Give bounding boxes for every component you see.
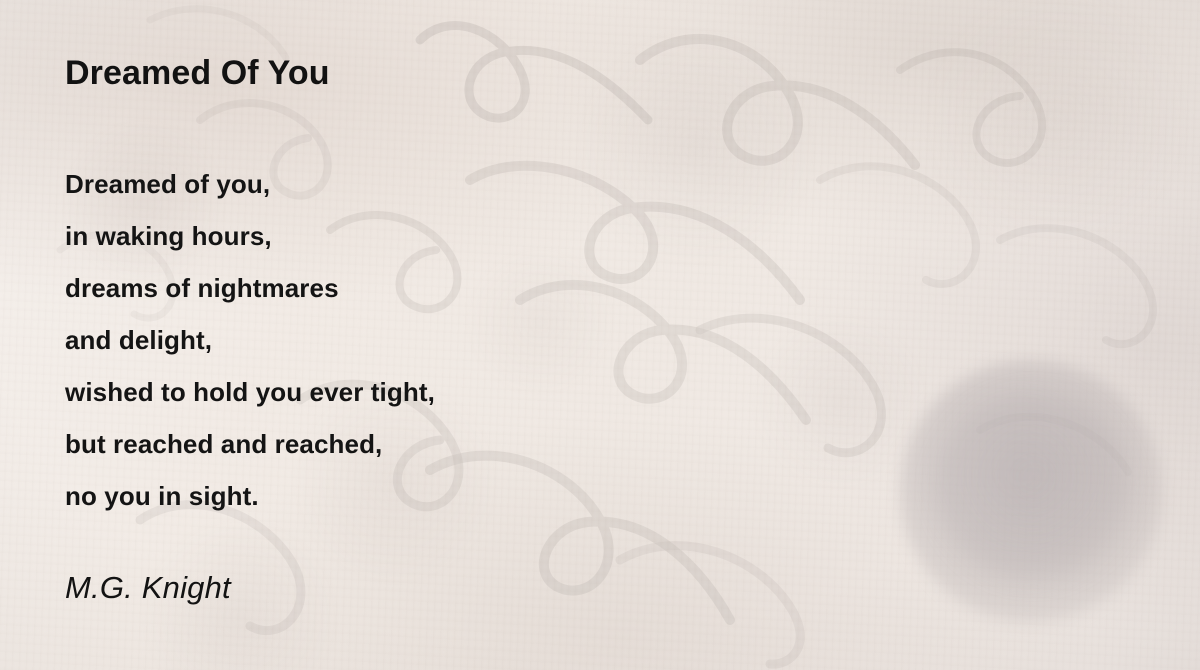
- poem-content: Dreamed Of You Dreamed of you, in waking…: [0, 0, 1200, 670]
- poem-body: Dreamed of you, in waking hours, dreams …: [65, 158, 435, 522]
- poem-line: wished to hold you ever tight,: [65, 366, 435, 418]
- poem-author-byline: M.G. Knight: [65, 570, 231, 606]
- poem-title: Dreamed Of You: [65, 54, 330, 93]
- poem-line: but reached and reached,: [65, 418, 435, 470]
- poem-line: Dreamed of you,: [65, 158, 435, 210]
- poem-line: in waking hours,: [65, 210, 435, 262]
- poem-line: and delight,: [65, 314, 435, 366]
- poem-page: Dreamed Of You Dreamed of you, in waking…: [0, 0, 1200, 670]
- poem-line: dreams of nightmares: [65, 262, 435, 314]
- poem-line: no you in sight.: [65, 470, 435, 522]
